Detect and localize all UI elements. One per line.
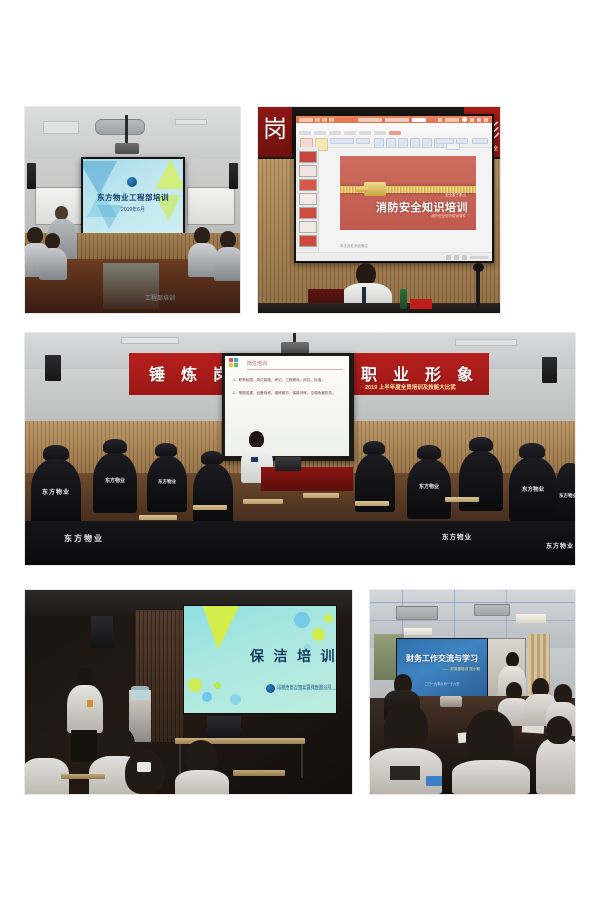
slide-thumbnail[interactable] [299,235,317,247]
logo-mark-icon [266,684,275,693]
bullets-icon[interactable] [456,138,468,144]
shape-icon[interactable] [398,138,408,148]
guard-cap [201,451,223,465]
banner-right-text: 职 业 形 象 [361,361,479,385]
bubble-decoration [188,678,202,692]
slide-title: 财务工作交流与学习 [406,653,478,664]
presenter-head [356,263,376,285]
save-icon[interactable] [315,118,320,122]
monitor [207,716,241,738]
ceiling-light [404,628,432,635]
presenter-head [249,431,264,448]
table-reflection-text: 工程部培训 [145,293,199,302]
slide-date: 2019年6月 [83,206,183,213]
slide-eyebrow: 安全重于泰山 [445,193,466,198]
microphone-icon [473,263,484,272]
attendee-head [185,740,217,774]
attendee-head [45,233,60,249]
notebook [390,766,420,780]
zipper-slider-icon [356,187,368,192]
laptop [275,457,301,471]
polygon-shape [155,159,183,189]
wall-speaker-right [542,357,557,383]
company-name-en: YunCheng DongFang Property Management Co… [277,689,337,692]
projection-screen-frame: 岗位培训 1、职责权限、岗位制度、考记、工程程序、岗位、标准。 2、常规巡视、设… [222,353,354,461]
slide-title: 岗位培训 [247,360,267,367]
close-icon[interactable] [484,118,488,122]
slide-thumbnail[interactable] [299,193,317,205]
photo-engineering-training[interactable]: 东方物业工程部培训 2019年6月 工程部培训 [25,107,240,313]
projector-pole [125,115,128,145]
ppt-tab-active[interactable] [412,118,426,122]
ribbon-tab[interactable] [329,131,341,135]
ribbon-tab[interactable] [359,131,371,135]
table-reflection [103,263,159,309]
photo-collage: 东方物业工程部培训 2019年6月 工程部培训 [0,0,600,900]
student-desk [61,774,105,779]
uniform-label: 东方物业 [427,531,487,541]
attendee-body [39,248,67,280]
photo-skills-competition[interactable]: 锤 炼 岗 职 业 形 象 2019 上半年度全员培训及技能大比武 [25,333,575,565]
shape-icon[interactable] [386,138,396,148]
sorter-view-icon[interactable] [454,255,459,260]
triangle-decoration [202,605,240,650]
ribbon-tab[interactable] [299,131,311,135]
ceiling-vent [396,606,438,620]
attendee-head [194,227,210,244]
whiteboard-right [187,187,235,225]
bubble-decoration [214,682,221,689]
ceiling-vent [95,119,145,135]
uniform-label: 东方物业 [147,479,187,485]
ppt-tab-file[interactable] [358,118,382,122]
water-jug [131,686,149,700]
attendee-head [27,227,43,244]
ppt-tab-home[interactable] [385,118,409,122]
uniform-label: 东方物业 [553,493,575,499]
guard-cap [469,437,493,452]
avatar[interactable] [462,117,467,122]
shape-icon[interactable] [374,138,384,148]
ceiling-panel [43,121,79,134]
ribbon-tab[interactable] [344,131,356,135]
attendee-head [466,710,514,764]
badge-icon [251,457,258,462]
projection-screen-frame: 东方物业工程部培训 2019年6月 [81,157,185,235]
presenter-head [55,206,68,220]
ceiling-vent [474,604,510,616]
banner-character: 岗 [262,113,288,147]
title-underline [247,369,343,370]
bubble-decoration [312,628,325,641]
undo-icon[interactable] [322,118,327,122]
attendee-head [125,750,165,794]
powerpoint-window[interactable]: 消防安全知识培训 安全重于泰山 消防安全知识培训课件 单击此处添加备注 [296,116,492,261]
slide-logo [229,358,243,370]
guard-attendee [193,464,233,522]
attendee-body [214,247,240,281]
ceiling-panel [121,337,179,344]
photo-fire-safety-training[interactable]: 岗 职 业 形 2019 上半年度全 [258,107,500,313]
slide-title: 保 洁 培 训 [250,646,337,666]
attendee-body [452,760,530,794]
uniform-label: 东方物业 [93,477,137,484]
minimize-icon[interactable] [470,118,474,122]
smartphone [426,776,442,786]
bubble-decoration [294,612,310,628]
ribbon-tab-selected[interactable] [389,131,401,135]
guard-cap [417,445,441,460]
student-desk [303,493,339,498]
slide-body-line-1: 1、职责权限、岗位制度、考记、工程程序、岗位、标准。 [233,378,325,383]
bubble-decoration [230,694,241,705]
name-plate [410,299,432,309]
guard-cap [155,443,177,457]
account-name[interactable] [445,118,459,122]
ribbon-tab[interactable] [374,131,386,135]
ppt-title-bar [296,116,492,123]
slide-title: 消防安全知识培训 [376,199,468,215]
projection-screen: 保 洁 培 训 运城市东方物业管理有限公司 YunCheng DongFang … [183,605,337,714]
search-icon[interactable] [438,118,442,122]
attendee-head [554,684,572,704]
find-icon[interactable] [472,138,488,144]
podium-desk [258,303,500,313]
uniform-label: 东方物业 [49,533,119,544]
projection-screen-frame: 消防安全知识培训 安全重于泰山 消防安全知识培训课件 单击此处添加备注 [294,114,494,263]
bubble-decoration [324,614,333,623]
slide-thumbnail[interactable] [299,179,317,191]
uniform-label: 东方物业 [407,483,451,490]
uniform-label: 东方物业 [31,487,81,496]
company-logo-mark [127,177,137,187]
projection-screen: 岗位培训 1、职责权限、岗位制度、考记、工程程序、岗位、标准。 2、常规巡视、设… [224,355,350,457]
slide-subtitle: —— 财务部培训 张小莉 [442,667,480,672]
ceiling-panel [175,119,207,125]
slide-subtitle: 消防安全知识培训课件 [431,214,466,219]
redo-icon[interactable] [329,118,334,122]
slideshow-icon[interactable] [462,255,467,260]
slide-body-line-2: 2、常规巡视、设备检修、维修都方、保能训练、空调危害防范。 [233,390,345,396]
slide-canvas[interactable]: 消防安全知识培训 安全重于泰山 消防安全知识培训课件 [340,156,476,230]
shape-icon[interactable] [410,138,420,148]
trainer-head [77,668,93,686]
view-controls[interactable] [446,255,488,260]
slide-thumbnail[interactable] [299,165,317,177]
company-logo: 运城市东方物业管理有限公司 YunCheng DongFang Property… [266,684,337,693]
bubble-decoration [202,692,212,702]
microphone-stand [476,267,480,307]
trainer-skirt [71,730,97,762]
projection-screen: 消防安全知识培训 安全重于泰山 消防安全知识培训课件 单击此处添加备注 [296,116,492,261]
ceiling-panel [455,339,517,346]
slide-thumbnail-panel[interactable] [296,147,319,251]
ribbon-tab[interactable] [314,131,326,135]
guard-cap [103,439,127,454]
attendee-head [384,702,428,752]
ribbon-group-font[interactable] [330,138,370,144]
presenter-head [506,652,519,667]
normal-view-icon[interactable] [446,255,451,260]
zoom-slider[interactable] [470,256,488,259]
ribbon-group-paragraph[interactable] [436,138,468,144]
uniform-label: 东方物业 [509,485,557,493]
font-size-box[interactable] [356,138,370,144]
ceiling-projector [115,143,139,154]
wall-speaker [91,616,113,648]
projection-screen: 东方物业工程部培训 2019年6月 [83,159,183,233]
student-desk [445,497,479,502]
attendee-head [546,716,572,744]
slide-thumbnail[interactable] [299,221,317,233]
trainer-body [67,685,103,733]
photo-finance-training[interactable]: 财务工作交流与学习 —— 财务部培训 张小莉 二〇一九年六月一十六日 [370,590,575,794]
desk-leg [301,744,303,778]
student-desk [355,501,389,506]
slide-thumbnail[interactable] [299,207,317,219]
align-icon[interactable] [436,138,454,144]
banner-subtitle: 2019 上半年度全员培训及技能大比武 [365,383,456,391]
student-desk [243,499,283,504]
guard-attendee [459,451,503,511]
slide-notes-placeholder[interactable]: 单击此处添加备注 [340,244,368,249]
hair-clip [137,762,151,772]
photo-cleaning-training[interactable]: 保 洁 培 训 运城市东方物业管理有限公司 YunCheng DongFang … [25,590,352,794]
table-projector [440,696,462,707]
ribbon-tab-row[interactable] [299,131,401,135]
wall-speaker-left [45,355,61,381]
slide-title: 东方物业工程部培训 [83,192,183,203]
font-name-box[interactable] [330,138,354,144]
student-desk [139,515,177,520]
ceiling-light [516,614,546,623]
attendee-body [175,770,229,794]
badge-icon [87,700,93,707]
student-desk [193,505,227,510]
slide-thumbnail[interactable] [299,151,317,163]
water-bottle [400,289,407,309]
attendee-head [220,231,236,248]
wall-speaker-right [229,163,238,189]
ceiling-grid-line [370,602,575,603]
guard-cap [363,441,385,455]
ribbon-group-editing[interactable] [472,138,488,144]
attendee-body [536,738,575,794]
ppt-logo-icon [299,118,313,122]
maximize-icon[interactable] [477,118,481,122]
ppt-ribbon[interactable] [296,123,492,148]
student-desk [233,770,285,776]
uniform-label: 东方物业 [537,541,575,550]
wall-speaker-left [27,163,36,189]
shape-icon[interactable] [422,138,432,148]
